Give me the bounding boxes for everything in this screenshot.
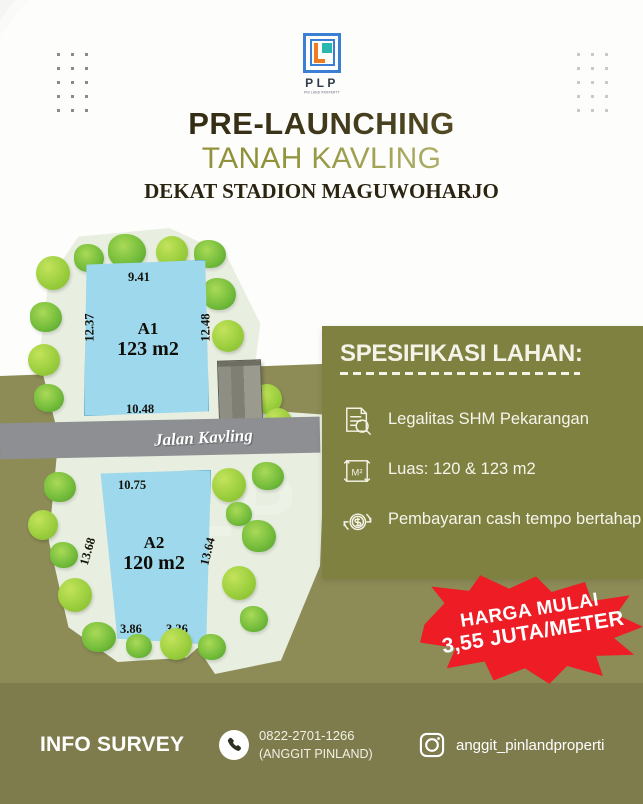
spec-item-area: M² Luas: 120 & 123 m2 [340, 454, 536, 488]
spec-divider-dashed [340, 372, 580, 375]
plot-a1-label: A1 123 m2 [98, 320, 198, 360]
brand-logo: PLP PIN LAND PROPERTY [293, 33, 351, 95]
spec-item-legality-text: Legalitas SHM Pekarangan [388, 404, 589, 430]
footer-contact-bar: INFO SURVEY 0822-2701-1266 (ANGGIT PINLA… [0, 683, 643, 804]
instagram-icon[interactable] [418, 731, 446, 759]
tree-icon [28, 344, 60, 376]
phone-icon[interactable] [219, 730, 249, 760]
phone-contact-name: (ANGGIT PINLAND) [259, 747, 373, 761]
spec-item-payment-text: Pembayaran cash tempo bertahap [388, 504, 641, 530]
info-survey-title: INFO SURVEY [40, 733, 184, 757]
phone-contact-group[interactable]: 0822-2701-1266 (ANGGIT PINLAND) [219, 727, 373, 762]
tree-icon [36, 256, 70, 290]
headline-location: DEKAT STADION MAGUWOHARJO [0, 179, 643, 204]
plot-a1-area: 123 m2 [98, 338, 198, 360]
plot-a1-name: A1 [98, 320, 198, 338]
tree-icon [30, 302, 62, 332]
tree-icon [58, 578, 92, 612]
spec-panel-title: SPESIFIKASI LAHAN: [340, 340, 583, 368]
site-plan-map: 9.41 12.37 12.48 10.48 A1 123 m2 Jalan K… [26, 224, 326, 674]
tree-icon [44, 472, 76, 502]
logo-subtitle: PIN LAND PROPERTY [293, 89, 351, 95]
headline-tanah-kavling: TANAH KAVLING [0, 142, 643, 177]
tree-icon [252, 462, 284, 490]
plot-a1-dim-top: 9.41 [128, 270, 150, 285]
tree-icon [202, 278, 236, 310]
tree-icon [126, 634, 152, 658]
tree-icon [50, 542, 78, 568]
plot-a1-dim-left: 12.37 [83, 313, 98, 341]
plot-a2-area: 120 m2 [104, 552, 204, 574]
tree-icon [34, 384, 64, 412]
spec-item-legality: Legalitas SHM Pekarangan [340, 404, 589, 438]
headline-pre-launching: PRE-LAUNCHING [0, 108, 643, 141]
poster-canvas: PLP PIN LAND PROPERTY PRE-LAUNCHING TANA… [0, 0, 643, 804]
tree-icon [222, 566, 256, 600]
svg-text:M²: M² [352, 467, 363, 477]
plp-logo-mark-icon [301, 33, 343, 75]
phone-text-block: 0822-2701-1266 (ANGGIT PINLAND) [259, 727, 373, 762]
logo-wordmark: PLP [293, 77, 351, 89]
tree-icon [82, 622, 116, 652]
plot-a2-name: A2 [104, 534, 204, 552]
headline-block: PRE-LAUNCHING TANAH KAVLING DEKAT STADIO… [0, 108, 643, 204]
plot-a1-dim-right: 12.48 [199, 313, 214, 341]
area-m2-icon: M² [340, 454, 374, 488]
tree-icon [240, 606, 268, 632]
spec-item-payment: Pembayaran cash tempo bertahap [340, 504, 641, 538]
certificate-document-icon [340, 404, 374, 438]
plot-a1-dim-bottom: 10.48 [126, 402, 154, 417]
plot-a2-dim-top: 10.75 [118, 478, 146, 493]
specifications-panel: SPESIFIKASI LAHAN: Legalitas SHM Pekaran… [322, 326, 643, 579]
building-structure [217, 359, 263, 422]
phone-number: 0822-2701-1266 [259, 728, 354, 743]
payment-cycle-icon [340, 504, 374, 538]
instagram-contact-group[interactable]: anggit_pinlandproperti [418, 731, 604, 759]
spec-item-area-text: Luas: 120 & 123 m2 [388, 454, 536, 480]
plot-a2-label: A2 120 m2 [104, 534, 204, 574]
tree-icon [160, 628, 192, 660]
tree-icon [212, 320, 244, 352]
price-badge: HARGA MULAI 3,55 JUTA/METER [420, 573, 643, 685]
tree-icon [242, 520, 276, 552]
tree-icon [28, 510, 58, 540]
tree-icon [198, 634, 226, 660]
tree-icon [212, 468, 246, 502]
instagram-handle: anggit_pinlandproperti [456, 737, 604, 754]
